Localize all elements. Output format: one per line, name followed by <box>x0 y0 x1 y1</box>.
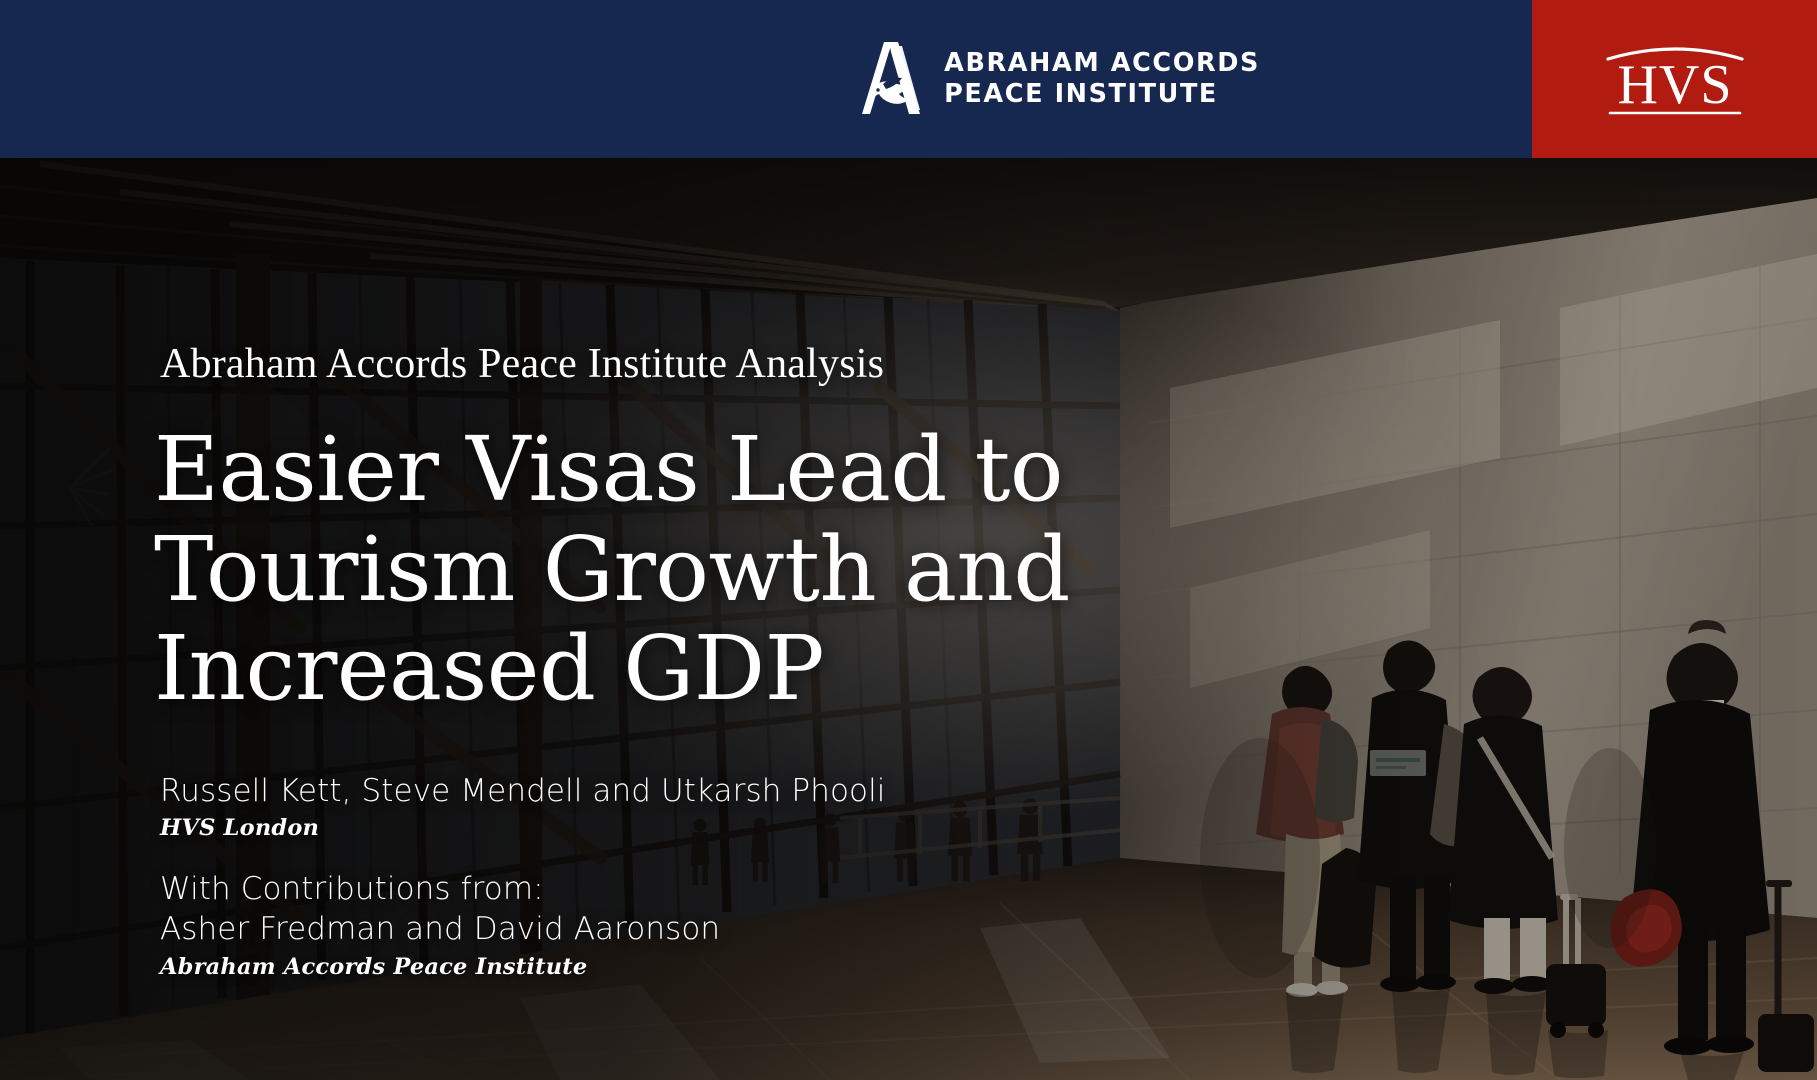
header-red-panel: HVS <box>1532 0 1817 158</box>
author-names: Russell Kett, Steve Mendell and Utkarsh … <box>160 773 886 809</box>
abraham-accords-dove-a-icon <box>862 40 924 118</box>
title-line-2: Tourism Growth and <box>154 520 1070 620</box>
contributions-label: With Contributions from: <box>160 870 720 910</box>
hvs-logo-icon: HVS <box>1600 33 1750 125</box>
author-affiliation: HVS London <box>160 815 886 841</box>
brand-header: ABRAHAM ACCORDS PEACE INSTITUTE HVS <box>0 0 1817 158</box>
title-line-1: Easier Visas Lead to <box>154 420 1070 520</box>
contributor-names: Asher Fredman and David Aaronson <box>160 910 720 950</box>
cover-text-block: Abraham Accords Peace Institute Analysis… <box>160 158 1340 1080</box>
contributions-block: With Contributions from: Asher Fredman a… <box>160 870 720 980</box>
byline: Russell Kett, Steve Mendell and Utkarsh … <box>160 773 886 841</box>
apa-wordmark: ABRAHAM ACCORDS PEACE INSTITUTE <box>944 48 1260 110</box>
contributor-affiliation: Abraham Accords Peace Institute <box>160 954 720 980</box>
abraham-accords-peace-institute-logo[interactable]: ABRAHAM ACCORDS PEACE INSTITUTE <box>862 40 1260 118</box>
page-title: Easier Visas Lead to Tourism Growth and … <box>154 420 1070 719</box>
title-line-3: Increased GDP <box>154 619 1070 719</box>
apa-wordmark-line-2: PEACE INSTITUTE <box>944 79 1260 110</box>
apa-wordmark-line-1: ABRAHAM ACCORDS <box>944 48 1260 79</box>
hvs-logo[interactable]: HVS <box>1600 33 1750 125</box>
hvs-wordmark-text: HVS <box>1617 54 1732 116</box>
eyebrow-label: Abraham Accords Peace Institute Analysis <box>160 340 884 388</box>
header-navy-panel: ABRAHAM ACCORDS PEACE INSTITUTE <box>0 0 1532 158</box>
